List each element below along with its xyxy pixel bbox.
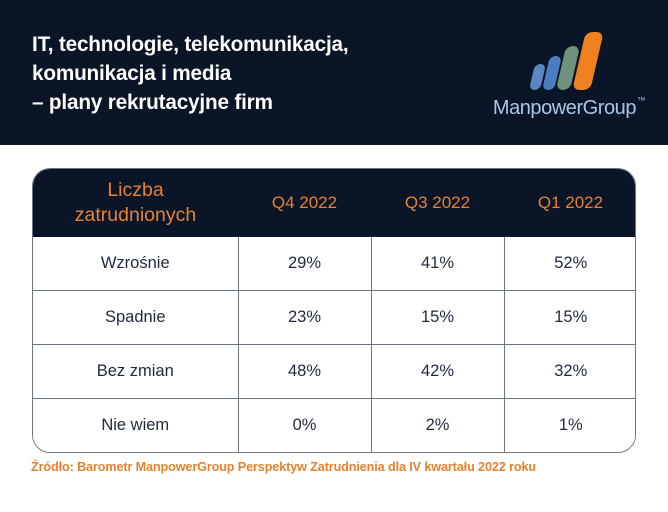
header-band: IT, technologie, telekomunikacja, komuni…	[0, 0, 668, 145]
cell-spadnie-q3: 15%	[371, 291, 504, 345]
cell-wzrosnie-q3: 41%	[371, 237, 504, 291]
logo-wordmark: ManpowerGroup ™	[493, 97, 636, 120]
cell-bez-zmian-q3: 42%	[371, 345, 504, 399]
table-row: Nie wiem 0% 2% 1%	[33, 399, 636, 453]
cell-spadnie-q4: 23%	[238, 291, 371, 345]
title-line-3: – plany rekrutacyjne firm	[32, 88, 348, 117]
row-label-nie-wiem: Nie wiem	[33, 399, 238, 453]
column-header-line-2: zatrudnionych	[37, 203, 234, 228]
logo-bar-orange	[573, 32, 604, 90]
table-header: Liczba zatrudnionych Q4 2022 Q3 2022 Q1 …	[33, 169, 636, 237]
cell-bez-zmian-q1: 32%	[504, 345, 636, 399]
recruitment-plans-table: Liczba zatrudnionych Q4 2022 Q3 2022 Q1 …	[32, 168, 636, 453]
title-line-2: komunikacja i media	[32, 59, 348, 88]
column-header-employment-count: Liczba zatrudnionych	[33, 169, 238, 237]
cell-wzrosnie-q4: 29%	[238, 237, 371, 291]
cell-nie-wiem-q4: 0%	[238, 399, 371, 453]
source-note: Źródło: Barometr ManpowerGroup Perspekty…	[31, 460, 536, 474]
page-title: IT, technologie, telekomunikacja, komuni…	[32, 30, 360, 117]
infographic-page: IT, technologie, telekomunikacja, komuni…	[0, 0, 668, 512]
table-row: Bez zmian 48% 42% 32%	[33, 345, 636, 399]
cell-wzrosnie-q1: 52%	[504, 237, 636, 291]
row-label-bez-zmian: Bez zmian	[33, 345, 238, 399]
table-row: Spadnie 23% 15% 15%	[33, 291, 636, 345]
row-label-spadnie: Spadnie	[33, 291, 238, 345]
column-header-line-1: Liczba	[37, 178, 234, 203]
column-header-q1-2022: Q1 2022	[504, 169, 636, 237]
logo-mark-icon	[518, 30, 610, 90]
cell-bez-zmian-q4: 48%	[238, 345, 371, 399]
title-line-1: IT, technologie, telekomunikacja,	[32, 30, 348, 59]
column-header-q4-2022: Q4 2022	[238, 169, 371, 237]
table-row: Wzrośnie 29% 41% 52%	[33, 237, 636, 291]
logo-wordmark-text: ManpowerGroup	[493, 97, 636, 119]
row-label-wzrosnie: Wzrośnie	[33, 237, 238, 291]
cell-nie-wiem-q3: 2%	[371, 399, 504, 453]
trademark-icon: ™	[637, 95, 645, 105]
table-body: Wzrośnie 29% 41% 52% Spadnie 23% 15% 15%…	[33, 237, 636, 452]
table-header-row: Liczba zatrudnionych Q4 2022 Q3 2022 Q1 …	[33, 169, 636, 237]
column-header-q3-2022: Q3 2022	[371, 169, 504, 237]
manpowergroup-logo: ManpowerGroup ™	[493, 30, 636, 120]
table: Liczba zatrudnionych Q4 2022 Q3 2022 Q1 …	[33, 169, 636, 452]
cell-nie-wiem-q1: 1%	[504, 399, 636, 453]
cell-spadnie-q1: 15%	[504, 291, 636, 345]
